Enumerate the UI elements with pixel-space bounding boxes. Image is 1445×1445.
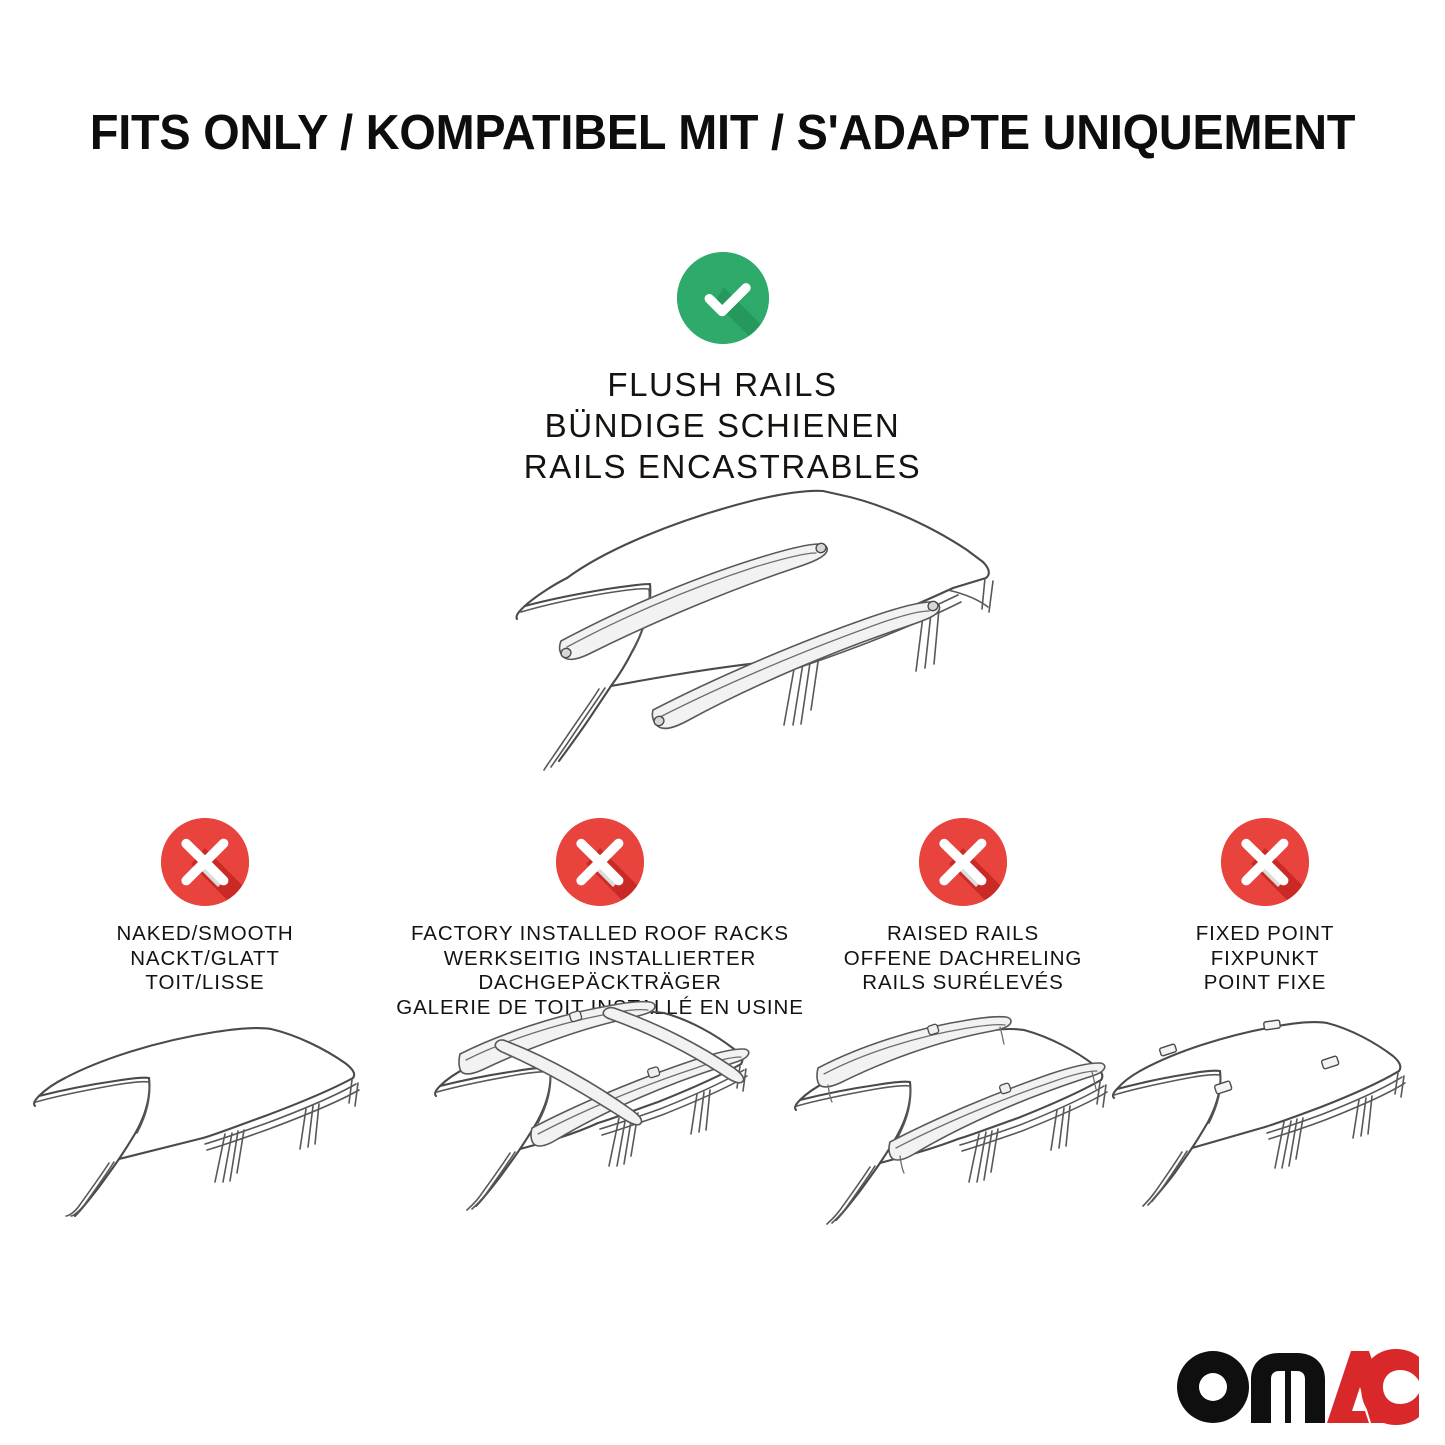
car-roof-raised-rails-illustration bbox=[778, 1010, 1148, 1230]
incompatible-labels: NAKED/SMOOTH NACKT/GLATT TOIT/LISSE bbox=[45, 922, 365, 996]
label-fr: TOIT/LISSE bbox=[45, 971, 365, 996]
car-roof-fixed-point-illustration bbox=[1110, 1016, 1420, 1216]
compatible-label-de: BÜNDIGE SCHIENEN bbox=[0, 405, 1445, 446]
logo-letter-o bbox=[1177, 1351, 1249, 1423]
x-circle-icon bbox=[919, 818, 1007, 906]
label-en: NAKED/SMOOTH bbox=[45, 922, 365, 947]
car-roof-flush-rails-illustration bbox=[455, 478, 1025, 778]
label-fr: RAILS SURÉLEVÉS bbox=[818, 971, 1108, 996]
x-circle-icon bbox=[161, 818, 249, 906]
logo-letter-m bbox=[1251, 1353, 1325, 1423]
incompatible-labels: RAISED RAILS OFFENE DACHRELING RAILS SUR… bbox=[818, 922, 1108, 996]
label-de-1: WERKSEITIG INSTALLIERTER bbox=[388, 947, 812, 972]
check-circle-icon bbox=[677, 252, 769, 344]
label-de: OFFENE DACHRELING bbox=[818, 947, 1108, 972]
incompatible-item-factory-roof-racks: FACTORY INSTALLED ROOF RACKS WERKSEITIG … bbox=[388, 818, 812, 1020]
compatible-labels: FLUSH RAILS BÜNDIGE SCHIENEN RAILS ENCAS… bbox=[0, 364, 1445, 487]
label-de: FIXPUNKT bbox=[1122, 947, 1408, 972]
page-title-text: FITS ONLY / KOMPATIBEL MIT / S'ADAPTE UN… bbox=[90, 104, 1355, 162]
incompatible-item-fixed-point: FIXED POINT FIXPUNKT POINT FIXE bbox=[1122, 818, 1408, 996]
label-en: RAISED RAILS bbox=[818, 922, 1108, 947]
incompatible-section: NAKED/SMOOTH NACKT/GLATT TOIT/LISSE bbox=[0, 818, 1445, 1238]
x-circle-icon bbox=[556, 818, 644, 906]
page-title: FITS ONLY / KOMPATIBEL MIT / S'ADAPTE UN… bbox=[0, 104, 1445, 162]
car-roof-factory-racks-illustration bbox=[410, 990, 790, 1220]
x-circle-icon bbox=[1221, 818, 1309, 906]
label-en: FIXED POINT bbox=[1122, 922, 1408, 947]
omac-brand-logo bbox=[1175, 1349, 1421, 1425]
compatible-label-en: FLUSH RAILS bbox=[0, 364, 1445, 405]
incompatible-item-raised-rails: RAISED RAILS OFFENE DACHRELING RAILS SUR… bbox=[818, 818, 1108, 996]
infographic-page: FITS ONLY / KOMPATIBEL MIT / S'ADAPTE UN… bbox=[0, 0, 1445, 1445]
label-en: FACTORY INSTALLED ROOF RACKS bbox=[388, 922, 812, 947]
label-fr: POINT FIXE bbox=[1122, 971, 1408, 996]
incompatible-labels: FIXED POINT FIXPUNKT POINT FIXE bbox=[1122, 922, 1408, 996]
label-de: NACKT/GLATT bbox=[45, 947, 365, 972]
car-roof-naked-illustration bbox=[25, 1016, 385, 1216]
incompatible-item-naked-smooth: NAKED/SMOOTH NACKT/GLATT TOIT/LISSE bbox=[45, 818, 365, 996]
compatible-section: FLUSH RAILS BÜNDIGE SCHIENEN RAILS ENCAS… bbox=[0, 252, 1445, 487]
